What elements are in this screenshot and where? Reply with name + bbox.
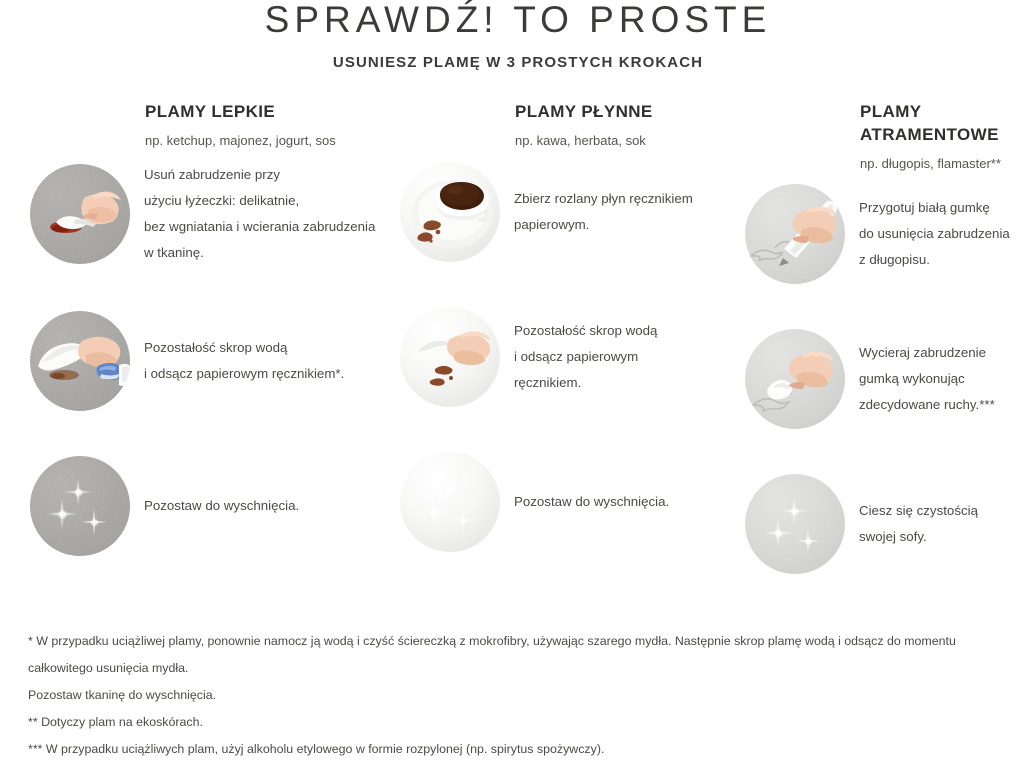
hand-cloth-illustration xyxy=(30,311,130,411)
step-line: Pozostaw do wyschnięcia. xyxy=(514,489,669,515)
column-sticky-stains: PLAMY LEPKIE np. ketchup, majonez, jogur… xyxy=(30,100,390,556)
step-line: Ciesz się czystością xyxy=(859,498,978,524)
step-line: do usunięcia zabrudzenia xyxy=(859,221,1010,247)
coffee-cup-illustration xyxy=(400,162,500,262)
footnote-single-asterisk: * W przypadku uciążliwej plamy, ponownie… xyxy=(28,628,1018,682)
step-text: Ciesz się czystością swojej sofy. xyxy=(845,498,978,550)
step-row: Pozostałość skrop wodą i odsącz papierow… xyxy=(30,311,390,411)
column-header: PLAMY ATRAMENTOWE np. długopis, flamaste… xyxy=(745,100,1036,172)
hand-eraser-removing-ink-photo xyxy=(745,329,845,429)
step-row: Pozostaw do wyschnięcia. xyxy=(30,456,390,556)
footnote-triple-asterisk: *** W przypadku uciążliwych plam, użyj a… xyxy=(28,736,1018,763)
column-title: PLAMY PŁYNNE xyxy=(515,100,750,123)
step-text: Pozostałość skrop wodą i odsącz papierow… xyxy=(500,318,657,396)
step-line: bez wgniatania i wcierania zabrudzenia xyxy=(144,214,375,240)
hand-pen-illustration xyxy=(745,184,845,284)
footnote-single-asterisk-cont: Pozostaw tkaninę do wyschnięcia. xyxy=(28,682,1018,709)
step-line: zdecydowane ruchy.*** xyxy=(859,392,995,418)
column-examples: np. kawa, herbata, sok xyxy=(515,123,750,149)
page-subtitle: USUNIESZ PLAMĘ W 3 PROSTYCH KROKACH xyxy=(0,38,1036,71)
step-line: ręcznikiem. xyxy=(514,370,657,396)
hand-spoon-ketchup-stain-photo xyxy=(30,164,130,264)
step-line: i odsącz papierowym xyxy=(514,344,657,370)
column-header: PLAMY PŁYNNE np. kawa, herbata, sok xyxy=(400,100,750,149)
step-text: Usuń zabrudzenie przy użyciu łyżeczki: d… xyxy=(130,162,375,266)
step-line: i odsącz papierowym ręcznikiem*. xyxy=(144,361,344,387)
step-text: Pozostałość skrop wodą i odsącz papierow… xyxy=(130,335,344,387)
step-row: Ciesz się czystością swojej sofy. xyxy=(745,474,1036,574)
step-line: gumką wykonując xyxy=(859,366,995,392)
hand-paper-towel-coffee-stain-photo xyxy=(400,307,500,407)
step-row: Pozostałość skrop wodą i odsącz papierow… xyxy=(400,307,750,407)
column-examples: np. długopis, flamaster** xyxy=(860,146,1036,172)
clean-leather-sparkles-photo xyxy=(745,474,845,574)
hand-cloth-spray-bottle-photo xyxy=(30,311,130,411)
step-line: swojej sofy. xyxy=(859,524,978,550)
step-text: Pozostaw do wyschnięcia. xyxy=(500,489,669,515)
step-line: Pozostaw do wyschnięcia. xyxy=(144,493,299,519)
spilled-coffee-cup-photo xyxy=(400,162,500,262)
step-line: Pozostałość skrop wodą xyxy=(514,318,657,344)
clean-white-surface-sparkles-photo xyxy=(400,452,500,552)
step-line: z długopisu. xyxy=(859,247,1010,273)
page-title: SPRAWDŹ! TO PROSTE xyxy=(0,0,1036,38)
step-line: Zbierz rozlany płyn ręcznikiem xyxy=(514,186,693,212)
column-ink-stains: PLAMY ATRAMENTOWE np. długopis, flamaste… xyxy=(745,100,1036,574)
step-row: Pozostaw do wyschnięcia. xyxy=(400,452,750,552)
footnote-double-asterisk: ** Dotyczy plam na ekoskórach. xyxy=(28,709,1018,736)
step-row: Usuń zabrudzenie przy użyciu łyżeczki: d… xyxy=(30,162,390,266)
step-line: Przygotuj białą gumkę xyxy=(859,195,1010,221)
step-line: Pozostałość skrop wodą xyxy=(144,335,344,361)
step-row: Wycieraj zabrudzenie gumką wykonując zde… xyxy=(745,329,1036,429)
footnotes: * W przypadku uciążliwej plamy, ponownie… xyxy=(28,628,1018,763)
clean-gray-fabric-sparkles-photo xyxy=(30,456,130,556)
step-line: Usuń zabrudzenie przy xyxy=(144,162,375,188)
step-text: Pozostaw do wyschnięcia. xyxy=(130,493,299,519)
column-header: PLAMY LEPKIE np. ketchup, majonez, jogur… xyxy=(30,100,390,149)
hand-spoon-illustration xyxy=(30,164,130,264)
hand-eraser-illustration xyxy=(745,329,845,429)
step-text: Zbierz rozlany płyn ręcznikiem papierowy… xyxy=(500,186,693,238)
hand-towel-illustration xyxy=(400,307,500,407)
column-liquid-stains: PLAMY PŁYNNE np. kawa, herbata, sok xyxy=(400,100,750,552)
hand-pen-drawing-on-leather-photo xyxy=(745,184,845,284)
step-line: w tkaninę. xyxy=(144,240,375,266)
step-text: Wycieraj zabrudzenie gumką wykonując zde… xyxy=(845,340,995,418)
column-examples: np. ketchup, majonez, jogurt, sos xyxy=(145,123,390,149)
step-text: Przygotuj białą gumkę do usunięcia zabru… xyxy=(845,195,1010,273)
step-row: Zbierz rozlany płyn ręcznikiem papierowy… xyxy=(400,162,750,262)
step-line: papierowym. xyxy=(514,212,693,238)
step-line: użyciu łyżeczki: delikatnie, xyxy=(144,188,375,214)
step-line: Wycieraj zabrudzenie xyxy=(859,340,995,366)
step-row: Przygotuj białą gumkę do usunięcia zabru… xyxy=(745,184,1036,284)
column-title: PLAMY ATRAMENTOWE xyxy=(745,100,1036,146)
column-title: PLAMY LEPKIE xyxy=(145,100,390,123)
